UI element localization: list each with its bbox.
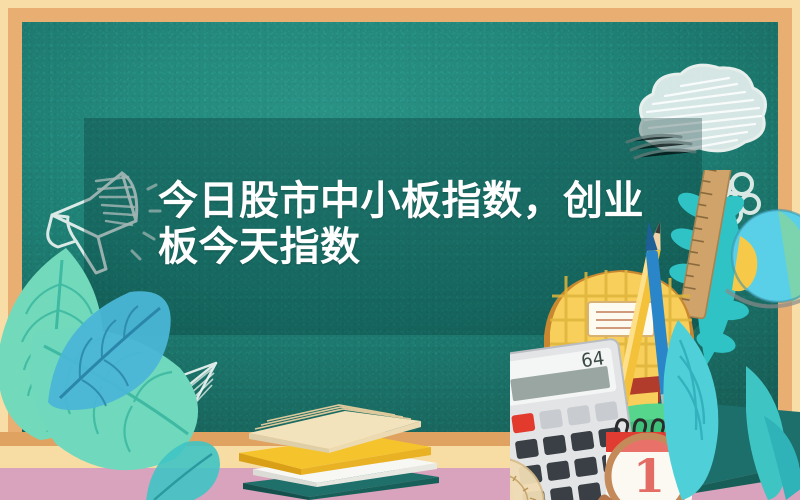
leaf-decoration [38,284,178,414]
school-supplies-cluster: 64 [510,170,800,500]
stacked-books [225,395,455,500]
leaf-decoration [140,436,230,500]
cover-image: 今日股市中小板指数，创业板今天指数 [0,0,800,500]
svg-text:64: 64 [580,347,606,372]
